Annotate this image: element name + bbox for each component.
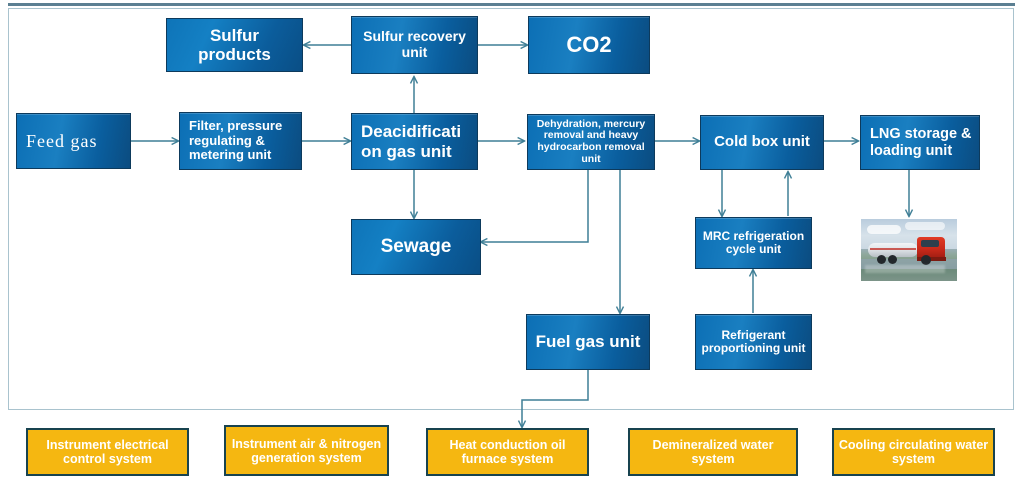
node-cold-box-unit[interactable]: Cold box unit [700, 115, 824, 170]
process-flow-diagram: Feed gas Filter, pressure regulating & m… [0, 0, 1024, 488]
truck-wheel [888, 255, 897, 264]
node-lng-storage-unit[interactable]: LNG storage & loading unit [860, 115, 980, 170]
node-instrument-air-nitrogen[interactable]: Instrument air & nitrogen generation sys… [224, 425, 389, 476]
node-filter-unit[interactable]: Filter, pressure regulating & metering u… [179, 112, 302, 170]
node-demineralized-water[interactable]: Demineralized water system [628, 428, 798, 476]
truck-wheel [877, 255, 886, 264]
node-filter-unit-label: Filter, pressure regulating & metering u… [189, 119, 295, 163]
node-sulfur-recovery-unit[interactable]: Sulfur recovery unit [351, 16, 478, 74]
node-fuel-gas-unit[interactable]: Fuel gas unit [526, 314, 650, 370]
diagram-frame [8, 8, 1014, 410]
node-instrument-electrical-label: Instrument electrical control system [28, 438, 187, 466]
node-heat-conduction-oil-label: Heat conduction oil furnace system [428, 438, 587, 466]
node-lng-storage-unit-label: LNG storage & loading unit [870, 126, 973, 158]
truck-wheel [921, 255, 931, 265]
node-deacidification-unit[interactable]: Deacidificati on gas unit [351, 113, 478, 170]
node-demineralized-water-label: Demineralized water system [630, 438, 796, 466]
node-sewage-label: Sewage [381, 236, 452, 257]
lng-tanker-truck-image [861, 219, 957, 281]
node-instrument-electrical[interactable]: Instrument electrical control system [26, 428, 189, 476]
truck-cab-window [921, 240, 939, 247]
truck-cloud [867, 225, 901, 234]
truck-reflection [865, 265, 945, 273]
node-sulfur-products[interactable]: Sulfur products [166, 18, 303, 72]
node-cold-box-unit-label: Cold box unit [714, 134, 810, 151]
node-refrigerant-unit-label: Refrigerant proportioning unit [701, 329, 806, 356]
node-mrc-unit[interactable]: MRC refrigeration cycle unit [695, 217, 812, 269]
node-sulfur-products-label: Sulfur products [172, 26, 297, 64]
node-dehydration-unit-label: Dehydration, mercury removal and heavy h… [533, 119, 649, 166]
node-cooling-circulating-water-label: Cooling circulating water system [834, 438, 993, 466]
node-sewage[interactable]: Sewage [351, 219, 481, 275]
truck-cloud [905, 222, 945, 230]
node-feed-gas[interactable]: Feed gas [16, 113, 131, 169]
node-mrc-unit-label: MRC refrigeration cycle unit [701, 230, 806, 257]
node-cooling-circulating-water[interactable]: Cooling circulating water system [832, 428, 995, 476]
node-heat-conduction-oil[interactable]: Heat conduction oil furnace system [426, 428, 589, 476]
node-deacidification-unit-label: Deacidificati on gas unit [361, 122, 471, 160]
node-instrument-air-nitrogen-label: Instrument air & nitrogen generation sys… [226, 437, 387, 465]
truck-tank-stripe [870, 248, 916, 250]
node-dehydration-unit[interactable]: Dehydration, mercury removal and heavy h… [527, 114, 655, 170]
node-co2-label: CO2 [566, 33, 611, 58]
node-refrigerant-unit[interactable]: Refrigerant proportioning unit [695, 314, 812, 370]
node-fuel-gas-unit-label: Fuel gas unit [536, 332, 641, 351]
node-co2[interactable]: CO2 [528, 16, 650, 74]
node-feed-gas-label: Feed gas [26, 131, 97, 151]
node-sulfur-recovery-unit-label: Sulfur recovery unit [357, 29, 472, 60]
frame-top-accent [8, 3, 1015, 6]
